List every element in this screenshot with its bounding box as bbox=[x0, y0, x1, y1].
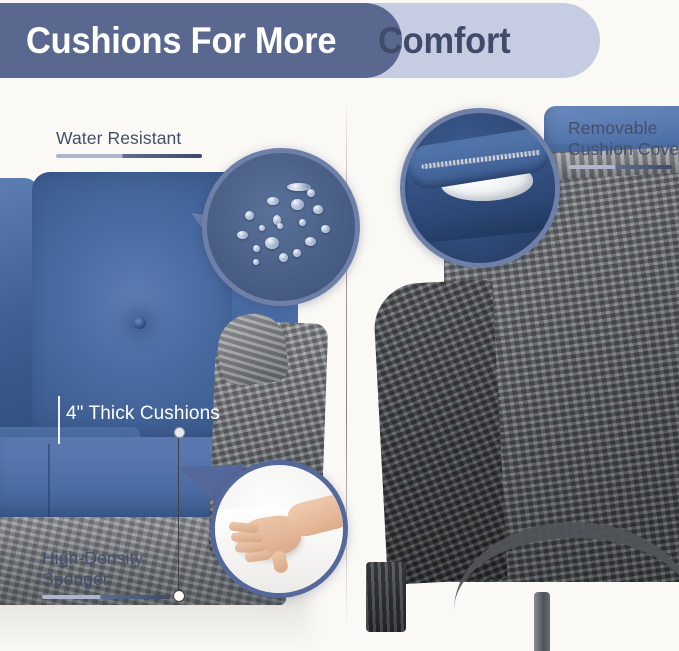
chair-wicker-wing bbox=[372, 279, 508, 585]
cushion-tuft-button bbox=[133, 317, 146, 329]
chair-rear-leg bbox=[366, 562, 406, 632]
header-banner: Cushions For More Comfort bbox=[0, 3, 600, 78]
chair-front-leg bbox=[534, 592, 550, 651]
infographic-canvas: Cushions For More Comfort bbox=[0, 0, 679, 651]
label-sponger-line1: High-Density bbox=[42, 548, 170, 569]
removable-cover-callout bbox=[400, 108, 560, 268]
header-title-part1: Cushions For More bbox=[26, 20, 336, 62]
label-thick-cushions-text: 4" Thick Cushions bbox=[66, 403, 220, 424]
hand-finger bbox=[231, 532, 263, 542]
header-title-part2: Comfort bbox=[378, 20, 510, 62]
label-removable-cover-line1: Removable bbox=[568, 118, 679, 139]
label-removable-cover-line2: Cushion Cover bbox=[568, 139, 679, 160]
label-water-resistant: Water Resistant bbox=[56, 128, 202, 158]
label-removable-cover: Removable Cushion Cover bbox=[568, 118, 679, 169]
label-removable-cover-underline bbox=[568, 165, 672, 169]
water-droplets-callout bbox=[202, 148, 360, 306]
thickness-bracket bbox=[58, 396, 60, 444]
panel-divider bbox=[346, 100, 347, 630]
sponge-leader-anchor-dot bbox=[174, 427, 185, 438]
header-title: Cushions For More Comfort bbox=[0, 3, 600, 78]
label-high-density-sponger: High-Density Sponger bbox=[42, 548, 170, 599]
label-sponger-line2: Sponger bbox=[42, 569, 170, 590]
label-sponger-underline bbox=[42, 595, 170, 599]
floor-shadow bbox=[0, 592, 310, 651]
seat-cushion-seam bbox=[48, 444, 50, 522]
label-water-resistant-text: Water Resistant bbox=[56, 128, 202, 149]
label-water-resistant-underline bbox=[56, 154, 202, 158]
sponge-leader-end-dot bbox=[173, 590, 185, 602]
hand-foam-callout bbox=[210, 460, 348, 598]
sponge-leader-line bbox=[178, 432, 179, 594]
label-thick-cushions: 4" Thick Cushions bbox=[66, 403, 220, 424]
